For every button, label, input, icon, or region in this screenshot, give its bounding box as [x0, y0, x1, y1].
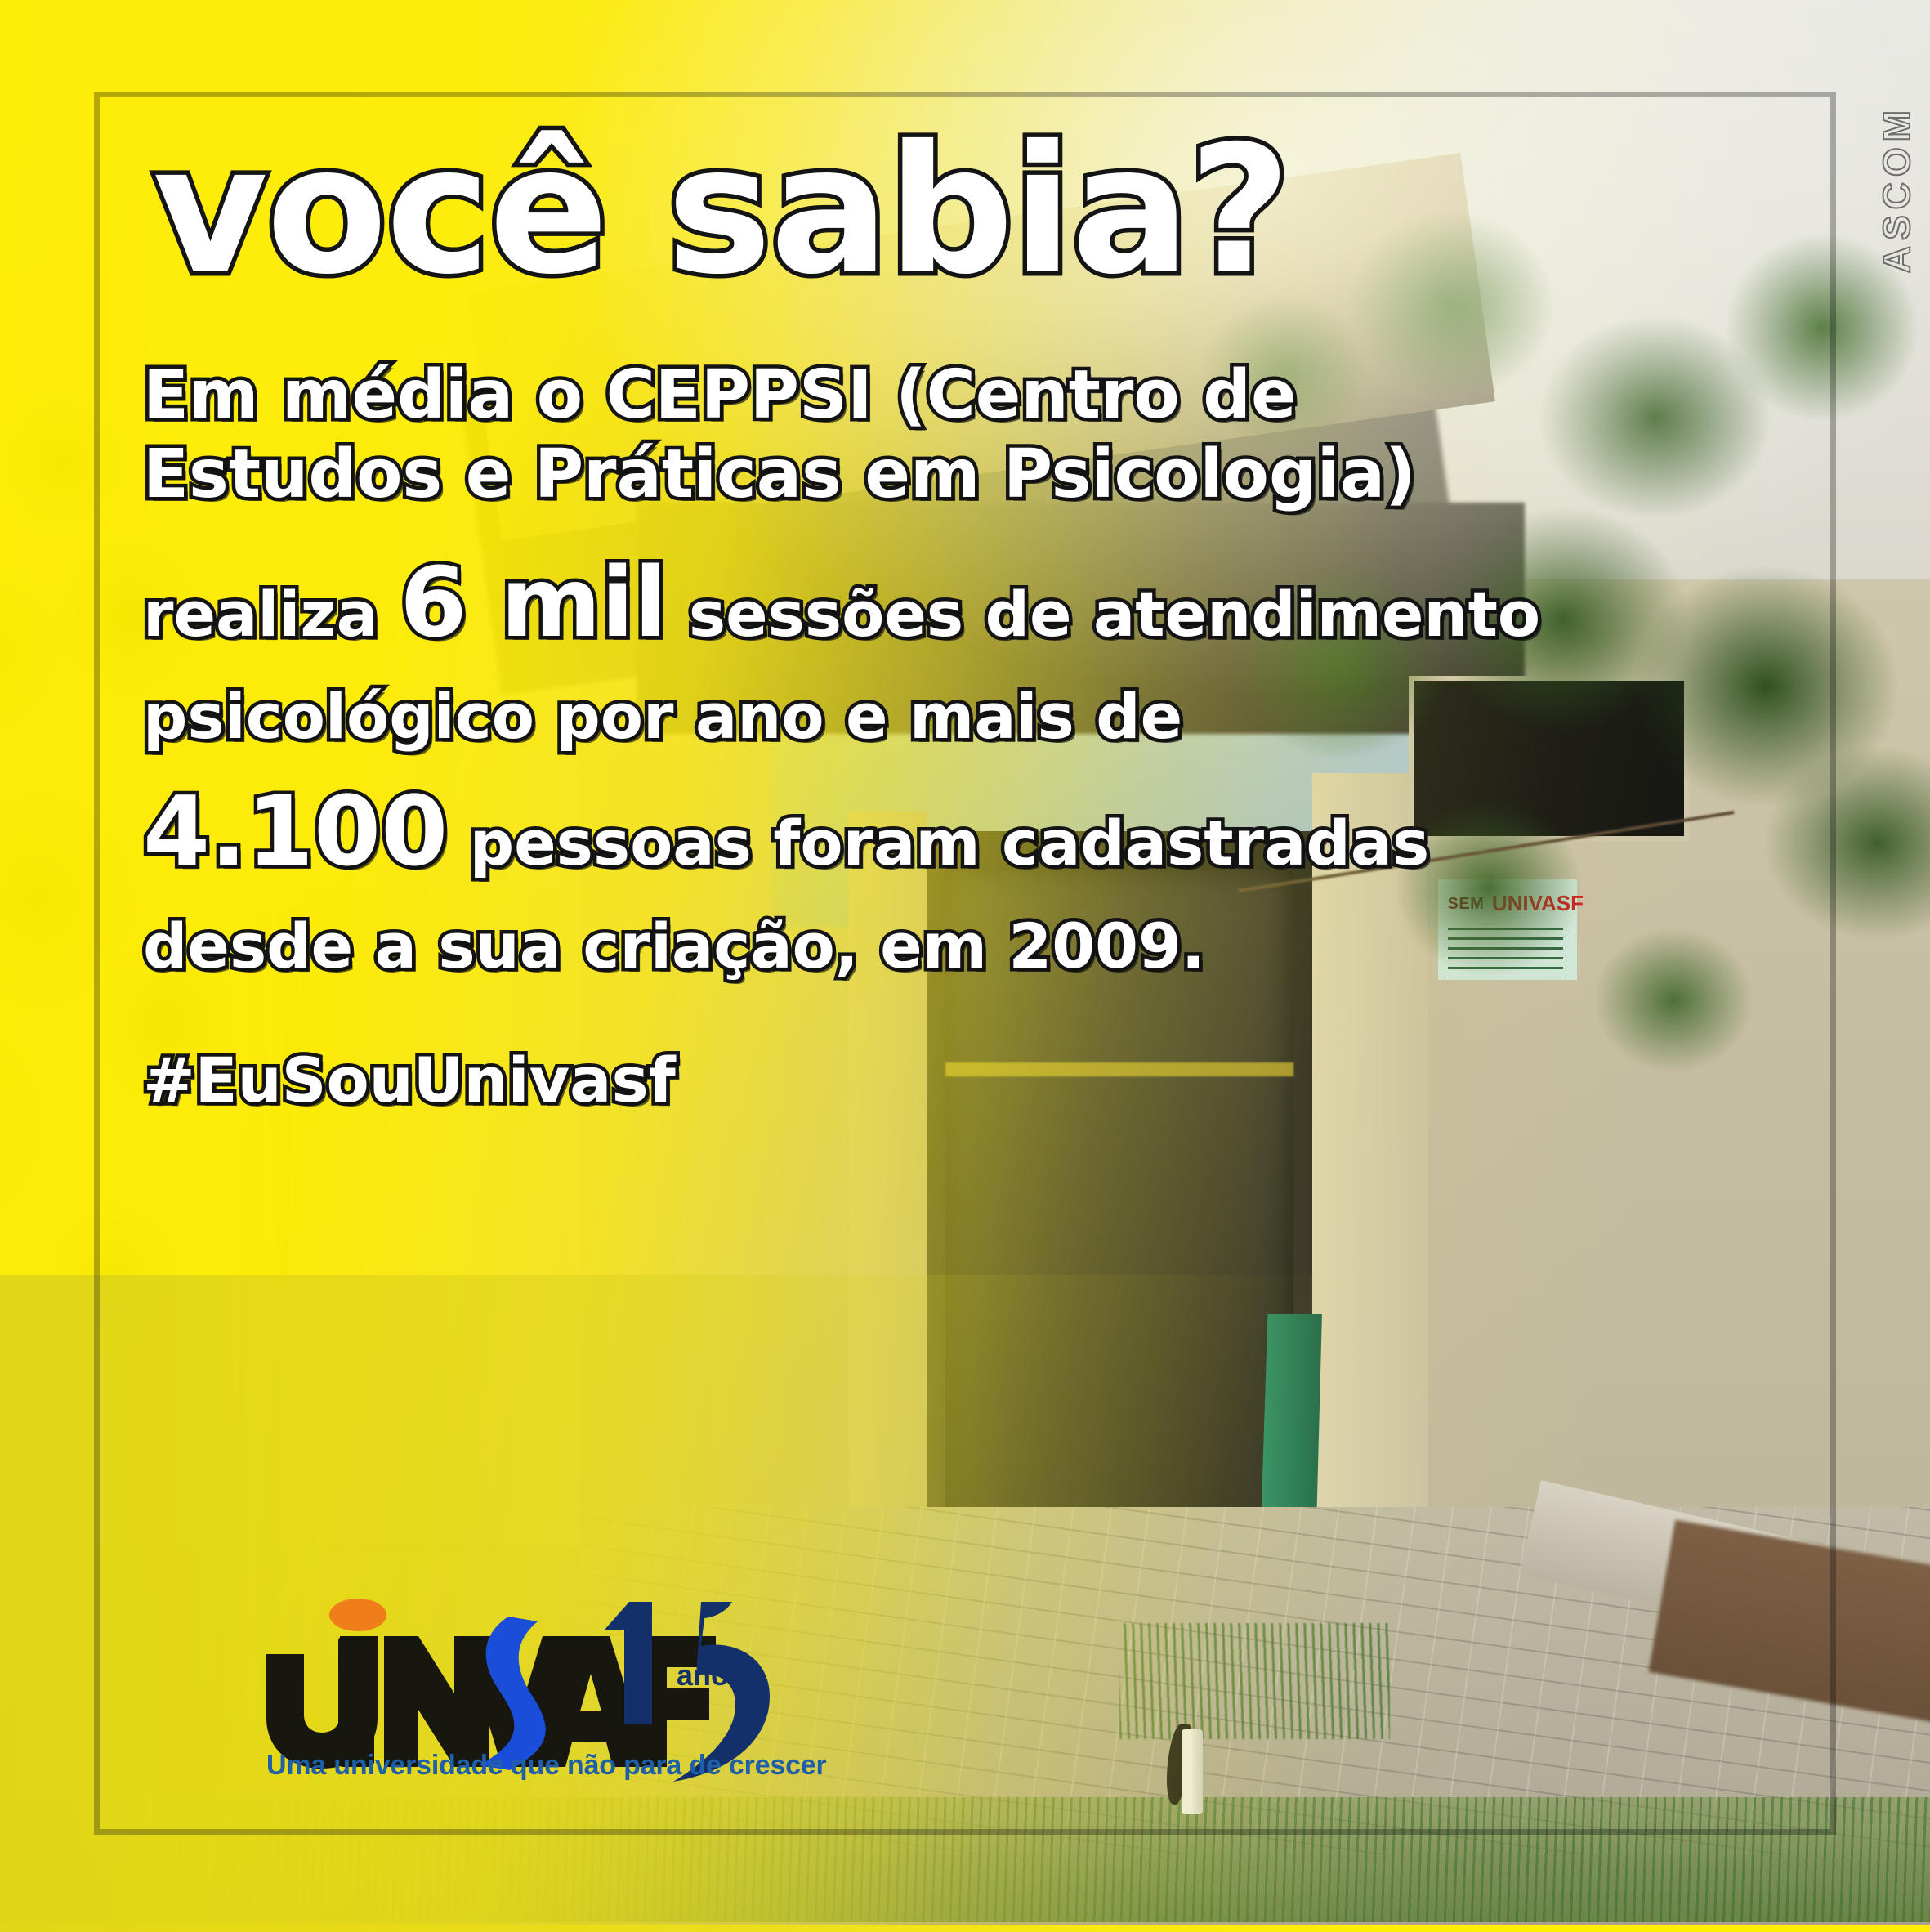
stat-sessions: 6 mil — [400, 546, 667, 659]
ascom-watermark: ASCOM — [1874, 105, 1919, 273]
logo-orange-dot — [329, 1599, 386, 1631]
poster-canvas: SEM UNIVASF ASCOM você sabia? Em média o… — [0, 0, 1930, 1932]
logo-tagline: Uma universidade que não para de crescer — [266, 1750, 827, 1782]
body-line-3-pre: realiza — [143, 578, 400, 651]
body-line-3-post: sessões de atendimento — [667, 578, 1540, 651]
logo-anos-label: anos — [677, 1658, 745, 1692]
body-line-5: 4.100 pessoas foram cadastradas — [143, 757, 1791, 906]
stat-people: 4.100 — [143, 775, 448, 888]
body-line-3: realiza 6 mil sessões de atendimento — [143, 528, 1791, 678]
body-line-5-post: pessoas foram cadastradas — [448, 807, 1429, 879]
body-copy: Em média o CEPPSI (Centro de Estudos e P… — [143, 356, 1791, 1111]
body-line-4: psicológico por ano e mais de — [143, 677, 1791, 756]
body-line-2: Estudos e Práticas em Psicologia) — [143, 436, 1791, 515]
body-line-1: Em média o CEPPSI (Centro de — [143, 356, 1791, 436]
hashtag: #EuSouUnivasf — [143, 1049, 1791, 1111]
univasf-logo: anos Uma universidade que não para de cr… — [260, 1584, 783, 1788]
body-line-6: desde a sua criação, em 2009. — [143, 906, 1791, 986]
page-title: você sabia? — [153, 123, 1791, 299]
